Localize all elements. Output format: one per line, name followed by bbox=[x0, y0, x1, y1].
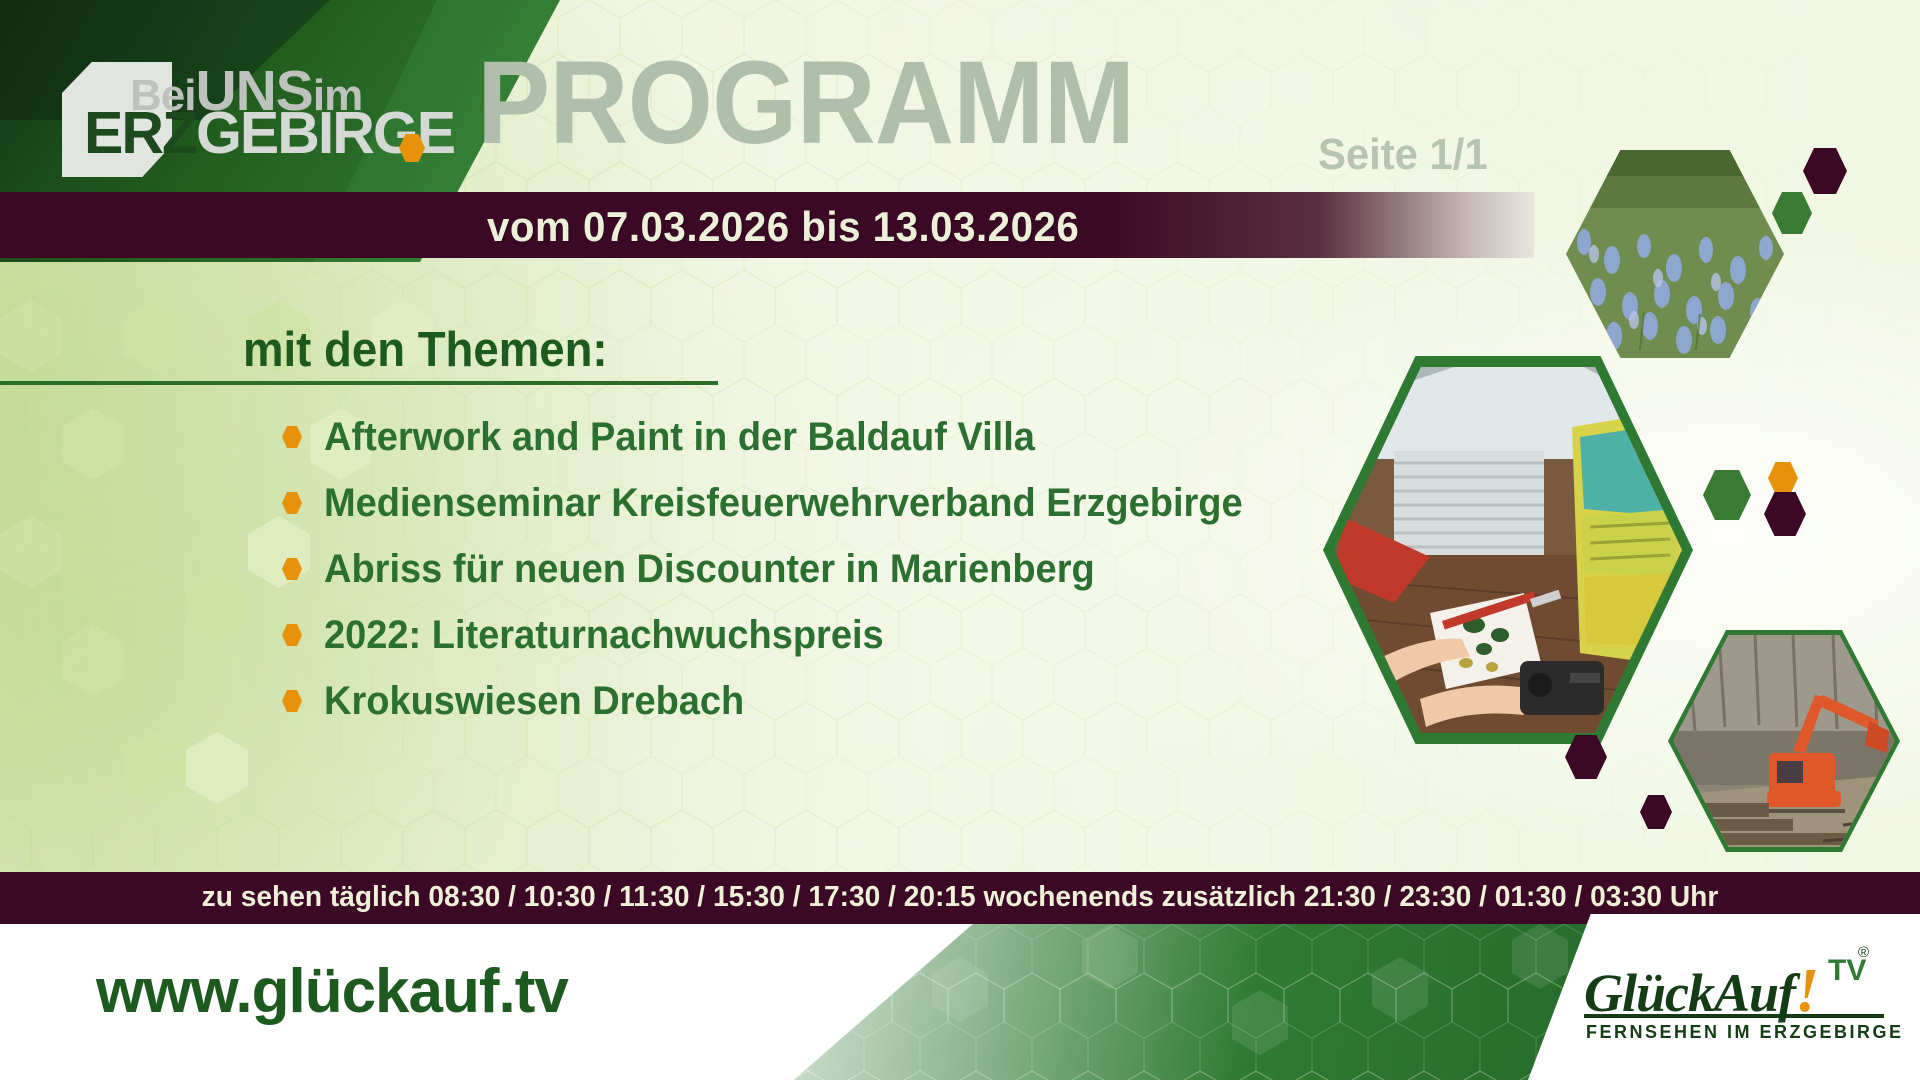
topics-list: Afterwork and Paint in der Baldauf Villa… bbox=[282, 404, 1332, 734]
website-url[interactable]: www.glückauf.tv bbox=[96, 956, 568, 1027]
logo-tagline: FERNSEHEN IM ERZGEBIRGE bbox=[1586, 1022, 1904, 1043]
orange-hex-bullet-icon bbox=[282, 624, 302, 646]
logo-erz: ERZ bbox=[84, 100, 196, 166]
orange-hex-bullet-icon bbox=[282, 558, 302, 580]
orange-hex-bullet-icon bbox=[282, 690, 302, 712]
list-item-label: Abriss für neuen Discounter in Marienber… bbox=[324, 547, 1095, 592]
list-item[interactable]: Krokuswiesen Drebach bbox=[282, 668, 1332, 734]
list-item[interactable]: 2022: Literaturnachwuchspreis bbox=[282, 602, 1332, 668]
list-item-label: 2022: Literaturnachwuchspreis bbox=[324, 613, 884, 658]
glueckauf-tv-logo[interactable]: GlückAuf! ® TV FERNSEHEN IM ERZGEBIRGE bbox=[1528, 914, 1920, 1080]
list-item[interactable]: Afterwork and Paint in der Baldauf Villa bbox=[282, 404, 1332, 470]
date-range-text: vom 07.03.2026 bis 13.03.2026 bbox=[487, 203, 1079, 251]
logo-underline bbox=[1584, 1014, 1884, 1018]
page-title: PROGRAMM bbox=[477, 44, 1134, 162]
programm-slide: BeiUNSim ERZGEBIRGE PROGRAMM Seite 1/1 v… bbox=[0, 0, 1920, 1080]
logo-tv-text: TV bbox=[1828, 954, 1866, 988]
brand-logo[interactable]: BeiUNSim ERZGEBIRGE bbox=[62, 52, 422, 170]
list-item-label: Medienseminar Kreisfeuerwehrverband Erzg… bbox=[324, 481, 1243, 526]
list-item[interactable]: Abriss für neuen Discounter in Marienber… bbox=[282, 536, 1332, 602]
list-item-label: Krokuswiesen Drebach bbox=[324, 679, 744, 724]
orange-hex-bullet-icon bbox=[282, 492, 302, 514]
page-indicator: Seite 1/1 bbox=[1318, 130, 1488, 180]
logo-line-two: ERZGEBIRGE bbox=[84, 99, 454, 167]
topics-heading: mit den Themen: bbox=[243, 322, 608, 378]
list-item[interactable]: Medienseminar Kreisfeuerwehrverband Erzg… bbox=[282, 470, 1332, 536]
orange-hex-bullet-icon bbox=[282, 426, 302, 448]
broadcast-times-text: zu sehen täglich 08:30 / 10:30 / 11:30 /… bbox=[29, 881, 1891, 914]
topics-heading-underline bbox=[0, 381, 718, 385]
list-item-label: Afterwork and Paint in der Baldauf Villa bbox=[324, 415, 1035, 460]
